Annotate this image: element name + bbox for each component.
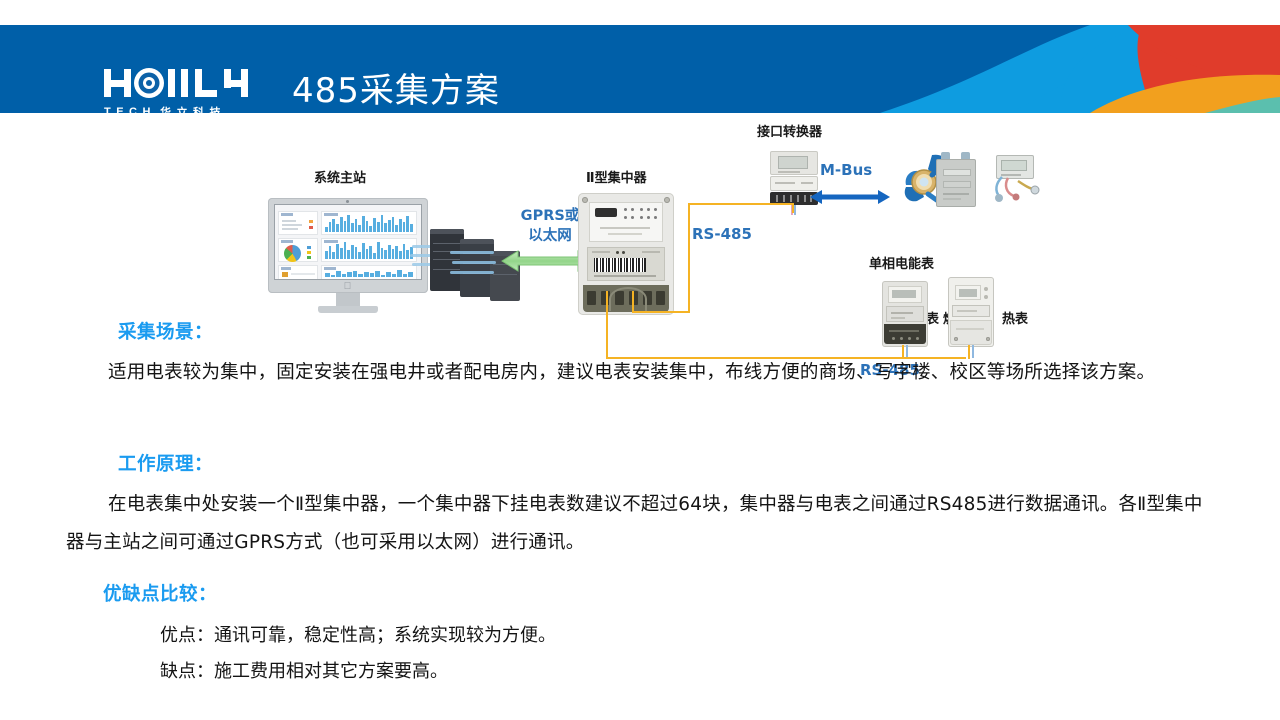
wire-rs485-converter-drop bbox=[792, 203, 794, 213]
label-heat-meter: 热表 bbox=[988, 308, 1042, 327]
logo-subtitle: TECH 华立科技 bbox=[104, 104, 264, 113]
section-body-principle: 在电表集中处安装一个Ⅱ型集中器，一个集中器下挂电表数建议不超过64块，集中器与电… bbox=[66, 486, 1216, 562]
mbus-double-arrow-icon bbox=[808, 189, 892, 205]
label-concentrator: Ⅱ型集中器 bbox=[586, 167, 647, 186]
section-heading-principle: 工作原理： bbox=[118, 450, 213, 476]
wire-rs485-upper-vertical bbox=[688, 203, 690, 313]
energy-meter-device-1 bbox=[882, 281, 928, 347]
heat-meter-device bbox=[988, 151, 1042, 209]
label-master-station: 系统主站 bbox=[314, 167, 366, 186]
link-label-rs485-upper: RS-485 bbox=[692, 225, 752, 243]
apple-logo-icon:  bbox=[343, 282, 352, 291]
energy-meter-device-2 bbox=[948, 277, 994, 347]
wire-rs485-lower-vertical bbox=[606, 291, 608, 359]
slide-header: TECH 华立科技 485采集方案 bbox=[0, 25, 1280, 113]
logo-tech-text: TECH bbox=[104, 106, 156, 113]
concentrator-device bbox=[578, 193, 674, 315]
wire-rs485-upper-horizontal bbox=[688, 203, 794, 205]
label-energy-meter: 单相电能表 bbox=[869, 253, 934, 272]
slide-root: TECH 华立科技 485采集方案 系统主站 Ⅱ型集中器 接口转换器 单相电能表 bbox=[0, 0, 1280, 720]
section-heading-proscons: 优缺点比较： bbox=[103, 580, 217, 606]
link-label-mbus: M-Bus bbox=[820, 161, 872, 179]
logo-chinese-text: 华立科技 bbox=[160, 104, 226, 113]
wire-rs485-concentrator-riser bbox=[632, 291, 634, 313]
dashboard-screen bbox=[274, 204, 422, 280]
section-heading-scenario: 采集场景： bbox=[118, 318, 213, 344]
holley-logo: TECH 华立科技 bbox=[104, 67, 264, 113]
page-title: 485采集方案 bbox=[292, 69, 500, 113]
proscons-cons: 缺点：施工费用相对其它方案要高。 bbox=[160, 654, 448, 690]
link-label-gprs: GPRS或以太网 bbox=[512, 206, 588, 246]
wire-rs485-concentrator-right bbox=[632, 311, 690, 313]
gas-meter-device bbox=[932, 151, 980, 209]
proscons-pros: 优点：通讯可靠，稳定性高；系统实现较为方便。 bbox=[160, 618, 556, 654]
holley-wordmark-icon bbox=[104, 67, 264, 101]
section-body-scenario: 适用电表较为集中，固定安装在强电井或者配电房内，建议电表安装集中，布线方便的商场… bbox=[66, 354, 1216, 392]
label-converter: 接口转换器 bbox=[757, 121, 822, 140]
